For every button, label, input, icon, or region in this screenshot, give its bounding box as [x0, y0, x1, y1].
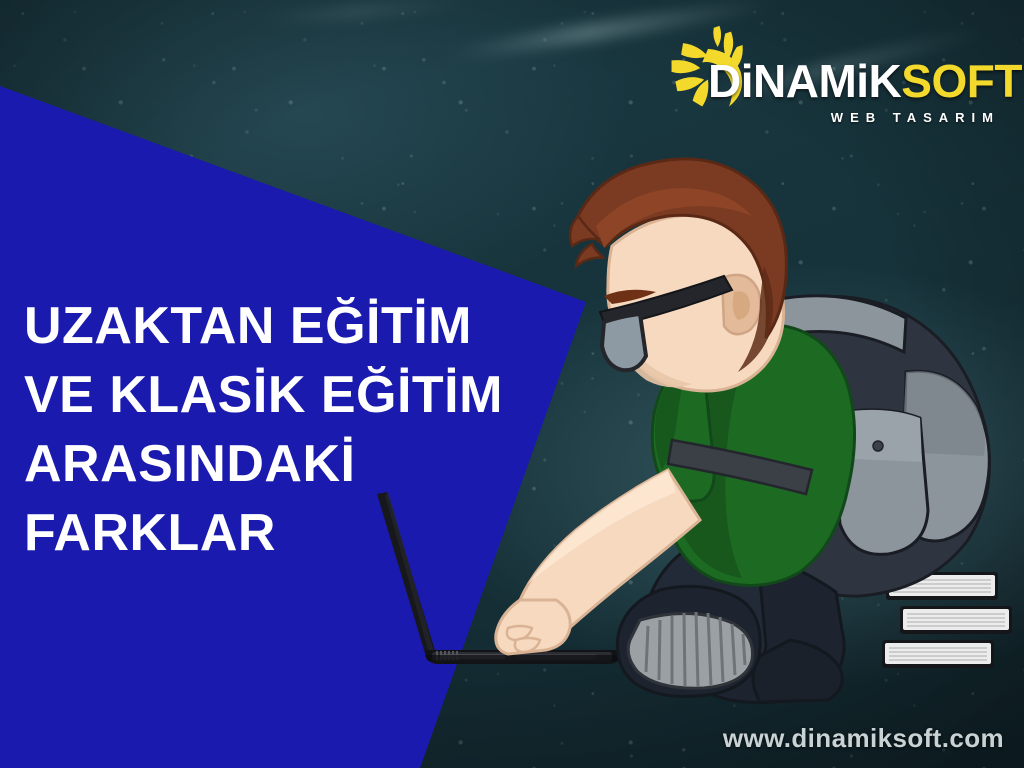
logo-tagline: WEB TASARIM: [831, 110, 1000, 125]
brand-logo[interactable]: DiNAMiKSOFT WEB TASARIM: [650, 18, 1002, 136]
headline-line-2: VE KLASİK EĞİTİM: [24, 361, 544, 430]
logo-word-primary: DiNAMiK: [708, 55, 901, 107]
logo-wordmark: DiNAMiKSOFT: [708, 58, 1022, 104]
website-url[interactable]: www.dinamiksoft.com: [723, 723, 1004, 754]
headline-line-3: ARASINDAKİ: [24, 430, 544, 499]
poster-canvas: UZAKTAN EĞİTİM VE KLASİK EĞİTİM ARASINDA…: [0, 0, 1024, 768]
headline: UZAKTAN EĞİTİM VE KLASİK EĞİTİM ARASINDA…: [24, 292, 544, 568]
headline-line-1: UZAKTAN EĞİTİM: [24, 292, 544, 361]
logo-word-secondary: SOFT: [901, 55, 1022, 107]
headline-line-4: FARKLAR: [24, 499, 544, 568]
